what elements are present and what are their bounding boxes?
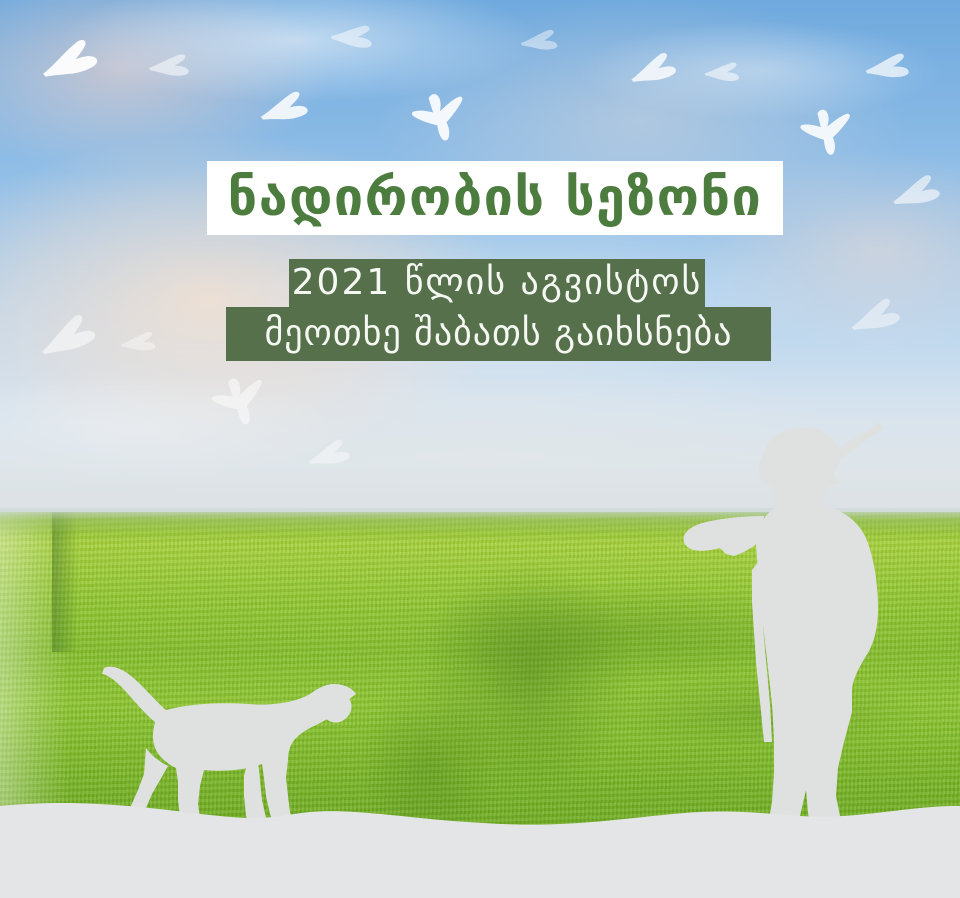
- bird-icon: [863, 50, 913, 80]
- bird-icon: [305, 438, 353, 469]
- poster-title: ნადირობის სეზონი: [228, 172, 763, 224]
- bird-icon: [519, 26, 561, 53]
- subtitle-band-line1: 2021 წლის აგვისტოს: [289, 259, 705, 307]
- poster-subtitle-line2: მეოთხე შაბათს გაიხსნება: [264, 316, 732, 352]
- bird-icon: [257, 89, 312, 124]
- bird-icon: [119, 328, 159, 354]
- poster-canvas: ნადირობის სეზონი 2021 წლის აგვისტოს მეოთ…: [0, 0, 960, 898]
- title-band: ნადირობის სეზონი: [207, 161, 783, 235]
- subtitle-band-line2: მეოთხე შაბათს გაიხსნება: [226, 307, 771, 361]
- ground-band: [0, 768, 960, 898]
- poster-subtitle-line1: 2021 წლის აგვისტოს: [292, 265, 703, 301]
